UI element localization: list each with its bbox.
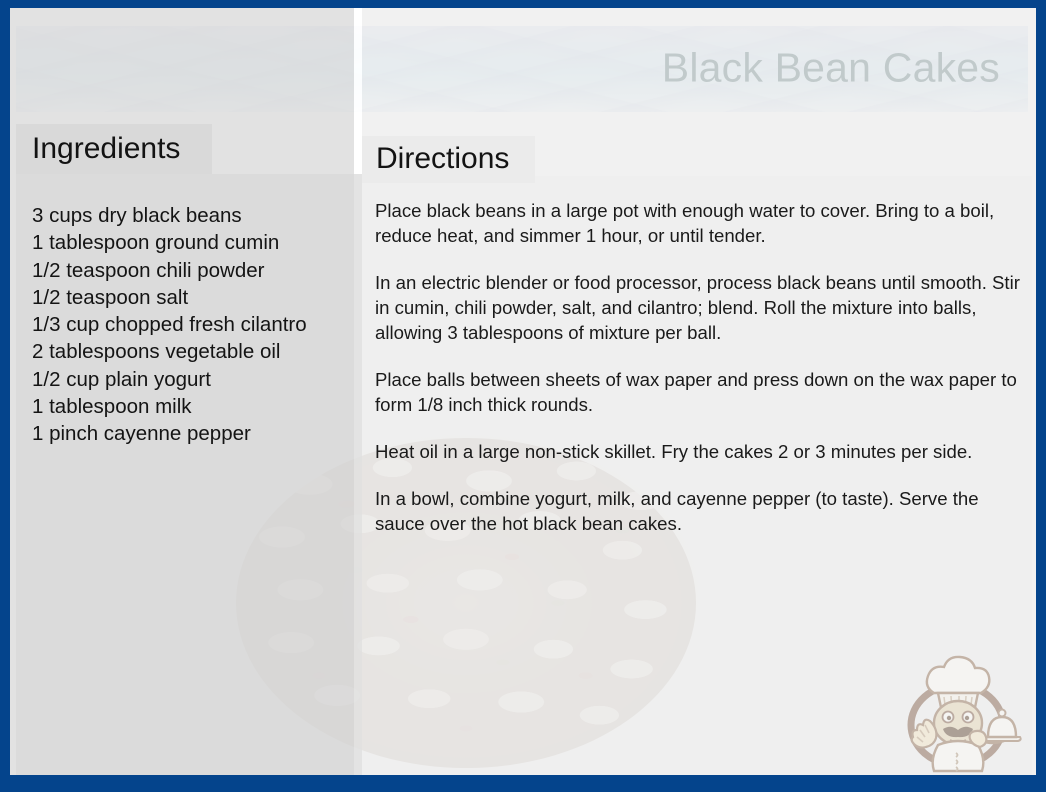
page-title: Black Bean Cakes — [662, 45, 1000, 92]
chef-mascot-icon — [898, 649, 1024, 773]
list-item: 1 pinch cayenne pepper — [32, 420, 354, 447]
recipe-card-inner: Black Bean Cakes Ingredients 3 cups dry … — [10, 8, 1036, 775]
direction-step: Place black beans in a large pot with en… — [375, 198, 1020, 248]
list-item: 1 tablespoon ground cumin — [32, 229, 354, 256]
list-item: 3 cups dry black beans — [32, 202, 354, 229]
direction-step: In a bowl, combine yogurt, milk, and cay… — [375, 486, 1020, 536]
directions-heading: Directions — [376, 142, 509, 176]
ingredients-heading: Ingredients — [32, 132, 180, 166]
list-item: 1/2 teaspoon salt — [32, 284, 354, 311]
list-item: 1/2 teaspoon chili powder — [32, 257, 354, 284]
header-banner: Black Bean Cakes — [16, 26, 1028, 112]
list-item: 1/2 cup plain yogurt — [32, 366, 354, 393]
direction-step: Place balls between sheets of wax paper … — [375, 367, 1020, 417]
directions-steps: Place black beans in a large pot with en… — [375, 198, 1020, 536]
list-item: 1/3 cup chopped fresh cilantro — [32, 311, 354, 338]
direction-step: Heat oil in a large non-stick skillet. F… — [375, 439, 1020, 464]
direction-step: In an electric blender or food processor… — [375, 270, 1020, 345]
ingredients-list: 3 cups dry black beans 1 tablespoon grou… — [32, 202, 354, 448]
recipe-card: Black Bean Cakes Ingredients 3 cups dry … — [0, 0, 1046, 792]
list-item: 1 tablespoon milk — [32, 393, 354, 420]
ingredients-panel: Ingredients 3 cups dry black beans 1 tab… — [16, 124, 362, 775]
list-item: 2 tablespoons vegetable oil — [32, 338, 354, 365]
